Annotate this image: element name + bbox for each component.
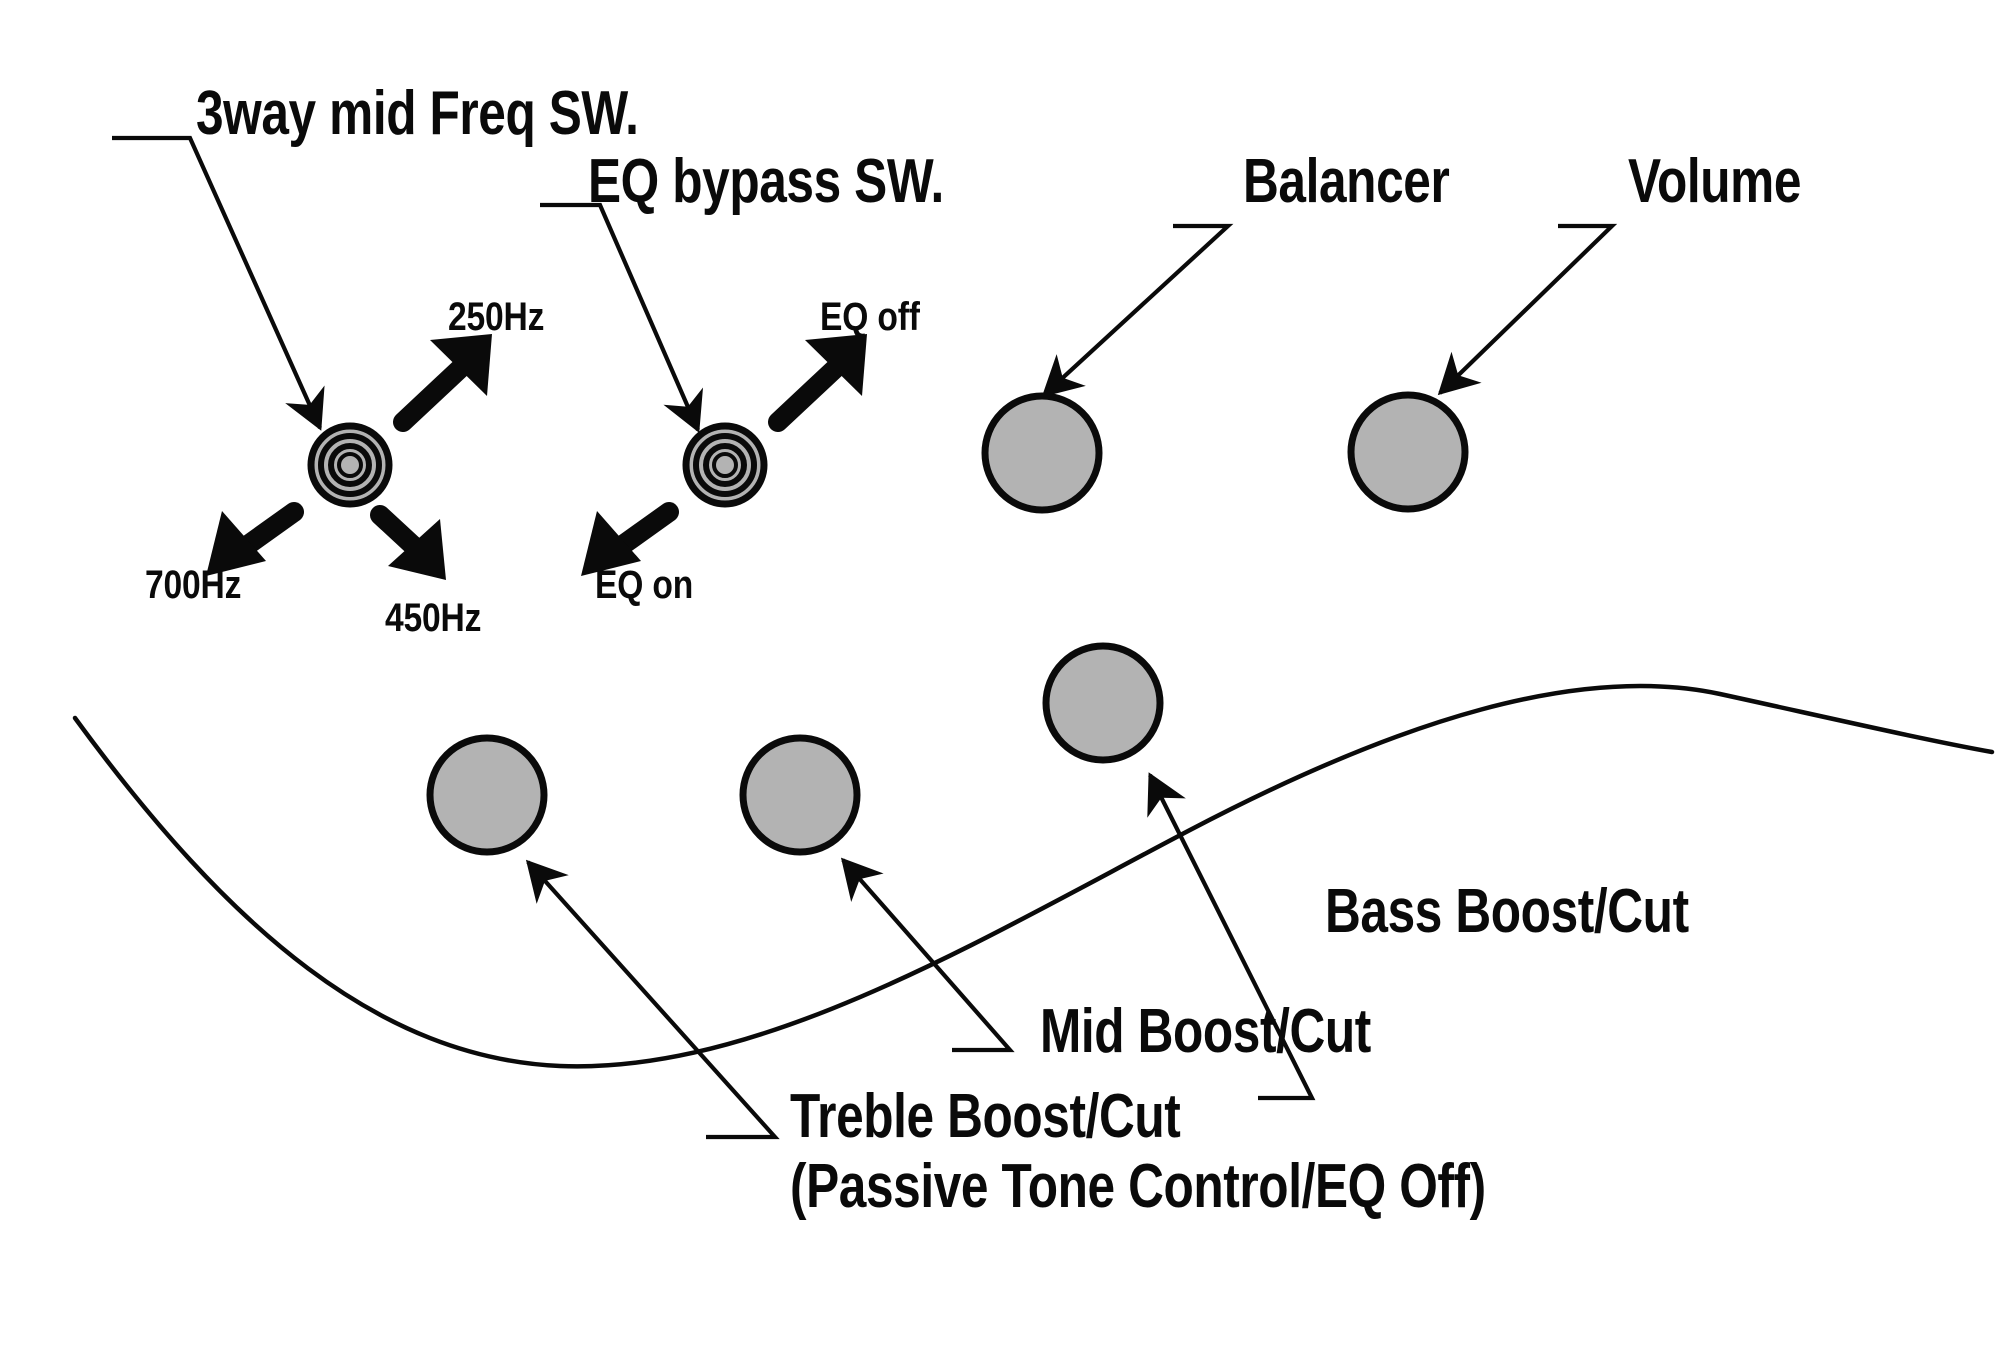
- switch-position-label-700hz: 700Hz: [145, 565, 241, 606]
- switch-position-label-eq-on: EQ on: [595, 565, 693, 606]
- callout-label-bass-boost-cut: Bass Boost/Cut: [1325, 880, 1689, 943]
- switch-position-label-eq-off: EQ off: [820, 297, 920, 338]
- diagram-canvas: 3way mid Freq SW. EQ bypass SW. Balancer…: [0, 0, 2000, 1350]
- body-outline-curve: [75, 686, 1992, 1066]
- direction-arrow-250hz: [403, 363, 466, 422]
- leader-line-mid: [843, 860, 1010, 1050]
- callout-label-treble-boost-cut: Treble Boost/Cut: [790, 1085, 1180, 1148]
- callout-label-three-way-mid-freq-sw: 3way mid Freq SW.: [196, 82, 638, 145]
- leader-line-eq-bypass: [540, 205, 698, 430]
- leader-line-volume: [1440, 226, 1612, 393]
- switch-position-label-250hz: 250Hz: [448, 297, 544, 338]
- balancer-knob[interactable]: [985, 396, 1099, 510]
- callout-label-mid-boost-cut: Mid Boost/Cut: [1040, 1000, 1371, 1063]
- mid-knob[interactable]: [743, 738, 857, 852]
- leader-line-balancer: [1044, 226, 1228, 395]
- direction-arrow-eq-off: [778, 363, 841, 422]
- three-way-mid-freq-switch[interactable]: [311, 426, 389, 504]
- callout-label-balancer: Balancer: [1243, 150, 1449, 213]
- leader-line-treble: [528, 862, 775, 1137]
- callout-label-volume: Volume: [1628, 150, 1801, 213]
- leader-line-three-way-mid-freq: [112, 138, 320, 428]
- eq-bypass-switch[interactable]: [686, 426, 764, 504]
- callout-label-eq-bypass-sw: EQ bypass SW.: [588, 150, 944, 213]
- bass-knob[interactable]: [1046, 646, 1160, 760]
- switch-position-label-450hz: 450Hz: [385, 598, 481, 639]
- treble-knob[interactable]: [430, 738, 544, 852]
- callout-label-treble-passive-tone-control: (Passive Tone Control/EQ Off): [790, 1155, 1486, 1218]
- volume-knob[interactable]: [1351, 395, 1465, 509]
